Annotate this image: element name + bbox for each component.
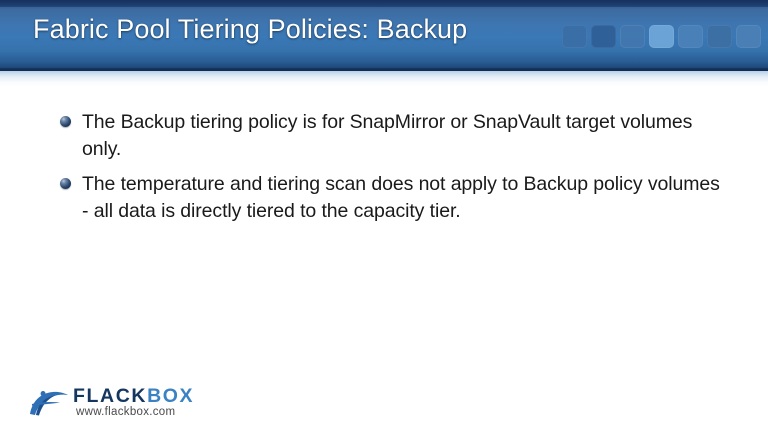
page-title: Fabric Pool Tiering Policies: Backup	[33, 14, 467, 45]
brand-box: BOX	[147, 385, 194, 407]
header-decor-squares	[562, 25, 768, 49]
decor-square-4	[649, 25, 674, 48]
decor-square-7	[736, 25, 761, 48]
brand-url: www.flackbox.com	[76, 406, 175, 418]
bullet-sphere-icon	[60, 116, 71, 127]
brand-flack: FLACK	[73, 385, 147, 407]
decor-square-1	[562, 25, 587, 48]
decor-square-5	[678, 25, 703, 48]
bullet-sphere-icon	[60, 178, 71, 189]
slide-header: Fabric Pool Tiering Policies: Backup	[0, 0, 768, 71]
decor-square-6	[707, 25, 732, 48]
bullet-list: The Backup tiering policy is for SnapMir…	[60, 109, 720, 233]
bullet-text: The temperature and tiering scan does no…	[82, 171, 720, 225]
flackbox-logo: FLACKBOX www.flackbox.com	[26, 386, 216, 420]
brand-wordmark: FLACKBOX	[73, 386, 194, 407]
header-fade-gradient	[0, 71, 768, 87]
list-item: The Backup tiering policy is for SnapMir…	[60, 109, 720, 163]
list-item: The temperature and tiering scan does no…	[60, 171, 720, 225]
decor-square-3	[620, 25, 645, 48]
decor-square-2	[591, 25, 616, 48]
slide-canvas: Fabric Pool Tiering Policies: Backup The…	[0, 0, 768, 432]
bullet-text: The Backup tiering policy is for SnapMir…	[82, 109, 720, 163]
header-top-strip	[0, 0, 768, 7]
flackbox-swoosh-icon	[26, 388, 70, 418]
